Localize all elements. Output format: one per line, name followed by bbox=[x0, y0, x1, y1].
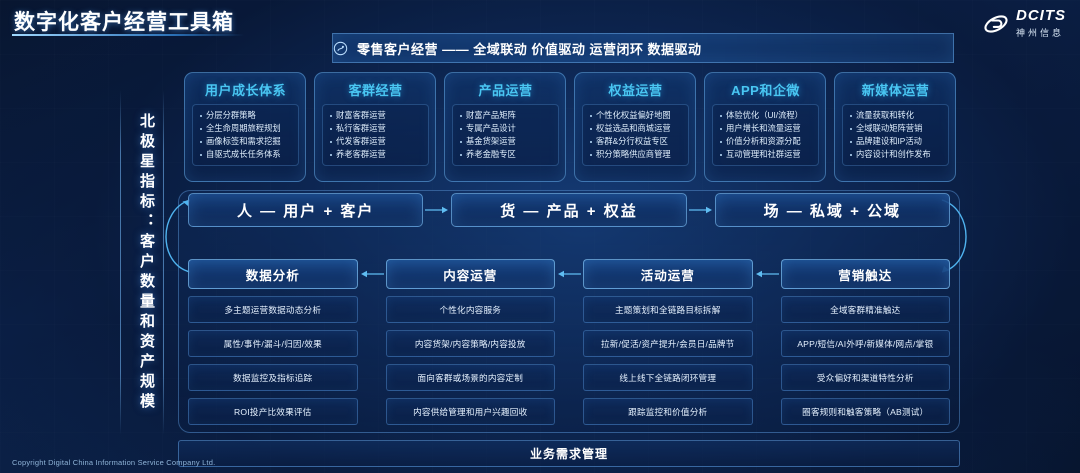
card-item-label: 内容设计和创作发布 bbox=[856, 148, 931, 161]
card-item: 财富产品矩阵 bbox=[457, 109, 555, 122]
detail-grid: 多主题运营数据动态分析 属性/事件/漏斗/归因/效果 数据监控及指标追踪 ROI… bbox=[188, 296, 950, 425]
detail-cell[interactable]: 内容供给管理和用户兴趣回收 bbox=[386, 398, 556, 425]
detail-cell[interactable]: 圈客规则和触客策略（AB测试） bbox=[781, 398, 951, 425]
card-item-label: 自驱式成长任务体系 bbox=[206, 148, 281, 161]
detail-cell[interactable]: 全域客群精准触达 bbox=[781, 296, 951, 323]
card-title: APP和企微 bbox=[712, 80, 819, 99]
detail-cell[interactable]: 属性/事件/漏斗/归因/效果 bbox=[188, 330, 358, 357]
card-title: 产品运营 bbox=[452, 80, 559, 99]
card-item: 互动管理和社群运营 bbox=[717, 148, 815, 161]
card-item-label: 养老客群运营 bbox=[336, 148, 386, 161]
column-header-data-analysis[interactable]: 数据分析 bbox=[188, 259, 358, 289]
card-item-label: 画像标签和需求挖掘 bbox=[206, 135, 281, 148]
card-item-label: 客群&分行权益专区 bbox=[596, 135, 668, 148]
card-item: 画像标签和需求挖掘 bbox=[197, 135, 295, 148]
column-header-marketing-reach[interactable]: 营销触达 bbox=[781, 259, 951, 289]
card-item: 私行客群运营 bbox=[327, 122, 425, 135]
card-item: 养老客群运营 bbox=[327, 148, 425, 161]
arrow-left-icon bbox=[358, 269, 386, 279]
card-item: 养老金融专区 bbox=[457, 148, 555, 161]
detail-cell[interactable]: 受众偏好和渠道特性分析 bbox=[781, 364, 951, 391]
card-item-label: 用户增长和流量运营 bbox=[726, 122, 801, 135]
card-item: 体验优化（UI/流程） bbox=[717, 109, 815, 122]
detail-cell[interactable]: 跟踪监控和价值分析 bbox=[583, 398, 753, 425]
card-item: 个性化权益偏好地图 bbox=[587, 109, 685, 122]
card-item-label: 品牌建设和IP活动 bbox=[856, 135, 922, 148]
card-item-label: 分层分群策略 bbox=[206, 109, 256, 122]
flow-item-field[interactable]: 场 — 私域 + 公域 bbox=[715, 193, 950, 227]
slide-canvas: 数字化客户经营工具箱 DCITS 神州信息 零售客户经营 —— 全域联动 价值驱… bbox=[0, 0, 1080, 473]
card-title: 用户成长体系 bbox=[192, 80, 299, 99]
card-item: 自驱式成长任务体系 bbox=[197, 148, 295, 161]
flow-item-goods[interactable]: 货 — 产品 + 权益 bbox=[451, 193, 686, 227]
card-item-label: 私行客群运营 bbox=[336, 122, 386, 135]
card-item-label: 价值分析和资源分配 bbox=[726, 135, 801, 148]
detail-cell[interactable]: 主题策划和全链路目标拆解 bbox=[583, 296, 753, 323]
headline-banner: 零售客户经营 —— 全域联动 价值驱动 运营闭环 数据驱动 bbox=[332, 33, 954, 63]
page-title: 数字化客户经营工具箱 bbox=[14, 6, 234, 36]
card-item-label: 基金货架运营 bbox=[466, 135, 516, 148]
copyright-text: Copyright Digital China Information Serv… bbox=[12, 458, 215, 467]
arrow-left-icon bbox=[555, 269, 583, 279]
card-item-label: 流量获取和转化 bbox=[856, 109, 914, 122]
card-item-label: 财富客群运营 bbox=[336, 109, 386, 122]
card-item-label: 权益选品和商城运营 bbox=[596, 122, 671, 135]
card-body: 分层分群策略 全生命周期旅程规划 画像标签和需求挖掘 自驱式成长任务体系 bbox=[192, 104, 299, 166]
detail-cell[interactable]: 数据监控及指标追踪 bbox=[188, 364, 358, 391]
card-item: 用户增长和流量运营 bbox=[717, 122, 815, 135]
card-body: 体验优化（UI/流程） 用户增长和流量运营 价值分析和资源分配 互动管理和社群运… bbox=[712, 104, 819, 166]
card-body: 财富产品矩阵 专属产品设计 基金货架运营 养老金融专区 bbox=[452, 104, 559, 166]
card-item: 分层分群策略 bbox=[197, 109, 295, 122]
card-item-label: 专属产品设计 bbox=[466, 122, 516, 135]
detail-cell[interactable]: ROI投产比效果评估 bbox=[188, 398, 358, 425]
polaris-metric-label: 北极星指标：客户数量和资产规模 bbox=[131, 98, 157, 428]
card-item: 全生命周期旅程规划 bbox=[197, 122, 295, 135]
detail-column: 个性化内容服务 内容货架/内容策略/内容投放 面向客群或场景的内容定制 内容供给… bbox=[386, 296, 556, 425]
polaris-divider-right bbox=[163, 90, 164, 435]
card-body: 个性化权益偏好地图 权益选品和商城运营 客群&分行权益专区 积分策略供应商管理 bbox=[582, 104, 689, 166]
capability-card[interactable]: 用户成长体系 分层分群策略 全生命周期旅程规划 画像标签和需求挖掘 自驱式成长任… bbox=[184, 72, 306, 182]
card-item-label: 代发客群运营 bbox=[336, 135, 386, 148]
card-item: 基金货架运营 bbox=[457, 135, 555, 148]
card-item: 权益选品和商城运营 bbox=[587, 122, 685, 135]
compass-icon bbox=[333, 41, 348, 56]
card-title: 新媒体运营 bbox=[842, 80, 949, 99]
card-item: 流量获取和转化 bbox=[847, 109, 945, 122]
column-headers: 数据分析 内容运营 活动运营 营销触达 bbox=[188, 260, 950, 288]
bottom-bar[interactable]: 业务需求管理 bbox=[178, 440, 960, 467]
card-item-label: 全生命周期旅程规划 bbox=[206, 122, 281, 135]
card-title: 客群经营 bbox=[322, 80, 429, 99]
card-item: 客群&分行权益专区 bbox=[587, 135, 685, 148]
card-item: 专属产品设计 bbox=[457, 122, 555, 135]
capability-card[interactable]: 新媒体运营 流量获取和转化 全域联动矩阵营销 品牌建设和IP活动 内容设计和创作… bbox=[834, 72, 956, 182]
detail-cell[interactable]: 拉新/促活/资产提升/会员日/品牌节 bbox=[583, 330, 753, 357]
detail-column: 全域客群精准触达 APP/短信/AI外呼/新媒体/网点/掌银 受众偏好和渠道特性… bbox=[781, 296, 951, 425]
logo-text-en: DCITS bbox=[1016, 7, 1066, 24]
column-header-campaign-ops[interactable]: 活动运营 bbox=[583, 259, 753, 289]
brand-logo: DCITS 神州信息 bbox=[983, 8, 1066, 40]
arrow-right-icon bbox=[687, 205, 715, 215]
detail-cell[interactable]: 个性化内容服务 bbox=[386, 296, 556, 323]
card-item: 财富客群运营 bbox=[327, 109, 425, 122]
capability-card[interactable]: APP和企微 体验优化（UI/流程） 用户增长和流量运营 价值分析和资源分配 互… bbox=[704, 72, 826, 182]
card-item: 品牌建设和IP活动 bbox=[847, 135, 945, 148]
card-item: 积分策略供应商管理 bbox=[587, 148, 685, 161]
detail-cell[interactable]: 线上线下全链路闭环管理 bbox=[583, 364, 753, 391]
card-item-label: 互动管理和社群运营 bbox=[726, 148, 801, 161]
card-item: 全域联动矩阵营销 bbox=[847, 122, 945, 135]
card-item-label: 全域联动矩阵营销 bbox=[856, 122, 922, 135]
card-item-label: 体验优化（UI/流程） bbox=[726, 109, 803, 122]
capability-cards: 用户成长体系 分层分群策略 全生命周期旅程规划 画像标签和需求挖掘 自驱式成长任… bbox=[184, 72, 956, 182]
card-item-label: 积分策略供应商管理 bbox=[596, 148, 671, 161]
detail-cell[interactable]: 面向客群或场景的内容定制 bbox=[386, 364, 556, 391]
card-item: 价值分析和资源分配 bbox=[717, 135, 815, 148]
capability-card[interactable]: 客群经营 财富客群运营 私行客群运营 代发客群运营 养老客群运营 bbox=[314, 72, 436, 182]
detail-column: 主题策划和全链路目标拆解 拉新/促活/资产提升/会员日/品牌节 线上线下全链路闭… bbox=[583, 296, 753, 425]
capability-card[interactable]: 权益运营 个性化权益偏好地图 权益选品和商城运营 客群&分行权益专区 积分策略供… bbox=[574, 72, 696, 182]
card-item: 内容设计和创作发布 bbox=[847, 148, 945, 161]
card-title: 权益运营 bbox=[582, 80, 689, 99]
banner-text: 零售客户经营 —— 全域联动 价值驱动 运营闭环 数据驱动 bbox=[357, 39, 702, 58]
detail-cell[interactable]: 内容货架/内容策略/内容投放 bbox=[386, 330, 556, 357]
card-item-label: 财富产品矩阵 bbox=[466, 109, 516, 122]
column-header-content-ops[interactable]: 内容运营 bbox=[386, 259, 556, 289]
card-body: 流量获取和转化 全域联动矩阵营销 品牌建设和IP活动 内容设计和创作发布 bbox=[842, 104, 949, 166]
flow-item-people[interactable]: 人 — 用户 + 客户 bbox=[188, 193, 423, 227]
arrow-right-icon bbox=[423, 205, 451, 215]
capability-card[interactable]: 产品运营 财富产品矩阵 专属产品设计 基金货架运营 养老金融专区 bbox=[444, 72, 566, 182]
title-underline bbox=[12, 34, 244, 36]
detail-column: 多主题运营数据动态分析 属性/事件/漏斗/归因/效果 数据监控及指标追踪 ROI… bbox=[188, 296, 358, 425]
card-item-label: 个性化权益偏好地图 bbox=[596, 109, 671, 122]
card-item-label: 养老金融专区 bbox=[466, 148, 516, 161]
detail-cell[interactable]: APP/短信/AI外呼/新媒体/网点/掌银 bbox=[781, 330, 951, 357]
flow-row: 人 — 用户 + 客户 货 — 产品 + 权益 场 — 私域 + 公域 bbox=[188, 194, 950, 226]
detail-cell[interactable]: 多主题运营数据动态分析 bbox=[188, 296, 358, 323]
logo-text-cn: 神州信息 bbox=[1016, 28, 1064, 38]
polaris-divider-left bbox=[120, 90, 121, 435]
card-body: 财富客群运营 私行客群运营 代发客群运营 养老客群运营 bbox=[322, 104, 429, 166]
arrow-left-icon bbox=[753, 269, 781, 279]
card-item: 代发客群运营 bbox=[327, 135, 425, 148]
dcits-swoosh-icon bbox=[983, 11, 1009, 37]
